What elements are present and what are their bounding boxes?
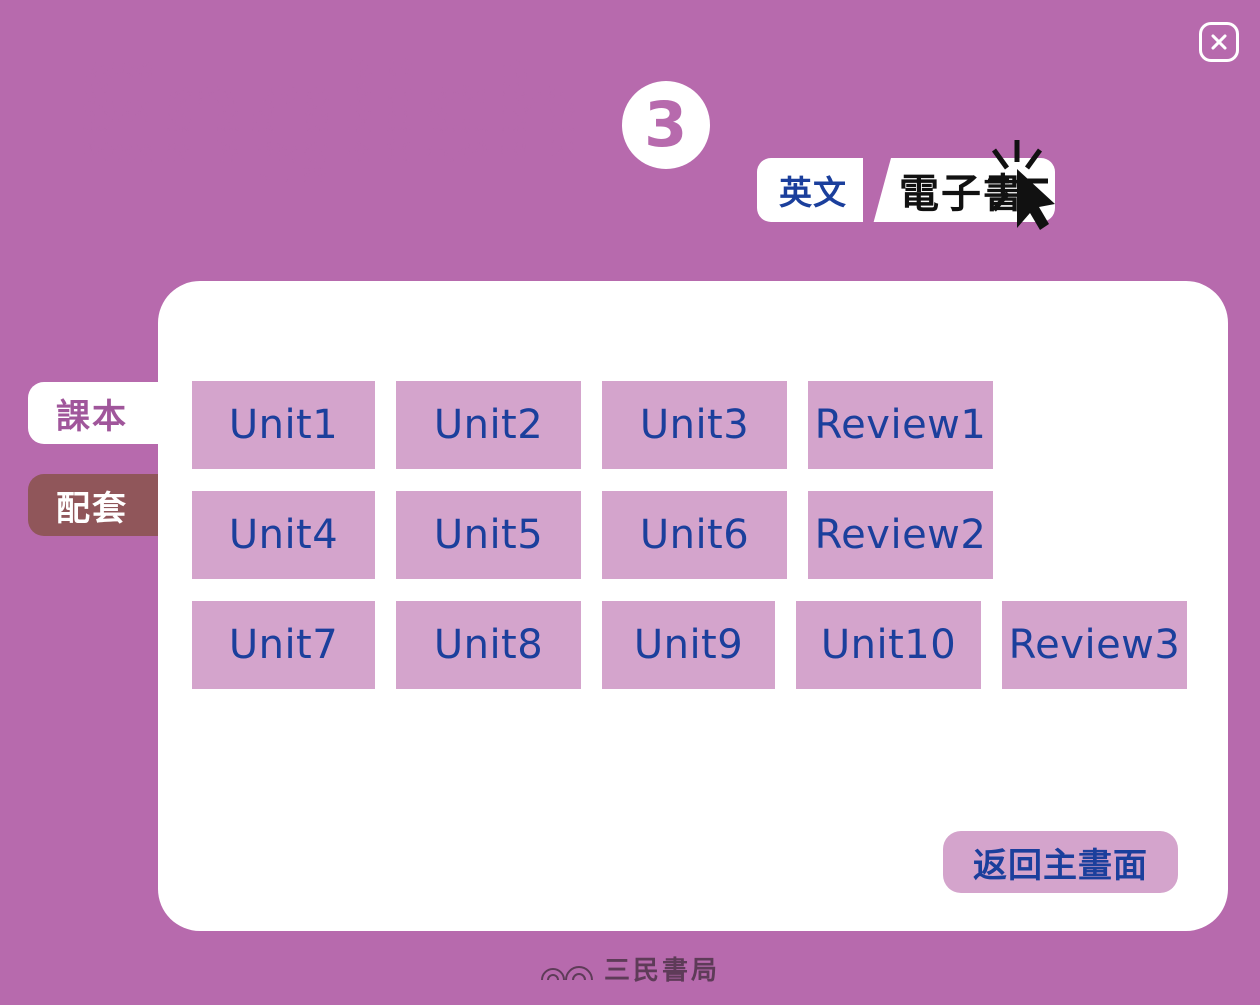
title-pill: 英文 電子書 xyxy=(757,158,1055,222)
unit-grid-row: Unit7 Unit8 Unit9 Unit10 Review3 xyxy=(192,601,1202,689)
subject-label: 英文 xyxy=(757,158,863,222)
unit-grid-row: Unit1 Unit2 Unit3 Review1 xyxy=(192,381,1202,469)
unit-button[interactable]: Unit8 xyxy=(396,601,581,689)
footer-brand: 三民書局 xyxy=(0,950,1260,987)
review-button[interactable]: Review1 xyxy=(808,381,993,469)
pill-divider xyxy=(863,158,891,222)
unit-button[interactable]: Unit9 xyxy=(602,601,775,689)
unit-button[interactable]: Unit5 xyxy=(396,491,581,579)
return-home-button[interactable]: 返回主畫面 xyxy=(943,831,1178,893)
unit-button[interactable]: Unit6 xyxy=(602,491,787,579)
ebook-label: 電子書 xyxy=(891,158,1055,222)
unit-button[interactable]: Unit10 xyxy=(796,601,981,689)
close-icon[interactable] xyxy=(1199,22,1239,62)
unit-grid: Unit1 Unit2 Unit3 Review1 Unit4 Unit5 Un… xyxy=(192,381,1202,711)
content-panel: Unit1 Unit2 Unit3 Review1 Unit4 Unit5 Un… xyxy=(158,281,1228,931)
review-button[interactable]: Review3 xyxy=(1002,601,1187,689)
unit-button[interactable]: Unit1 xyxy=(192,381,375,469)
unit-button[interactable]: Unit4 xyxy=(192,491,375,579)
logo-text: English xyxy=(70,52,583,183)
unit-grid-row: Unit4 Unit5 Unit6 Review2 xyxy=(192,491,1202,579)
unit-button[interactable]: Unit2 xyxy=(396,381,581,469)
rainbow-arc-icon xyxy=(540,956,596,982)
app-logo: English 3 xyxy=(70,52,710,183)
footer-brand-text: 三民書局 xyxy=(604,950,720,987)
review-button[interactable]: Review2 xyxy=(808,491,993,579)
logo-volume-badge: 3 xyxy=(622,81,710,169)
unit-button[interactable]: Unit7 xyxy=(192,601,375,689)
unit-button[interactable]: Unit3 xyxy=(602,381,787,469)
